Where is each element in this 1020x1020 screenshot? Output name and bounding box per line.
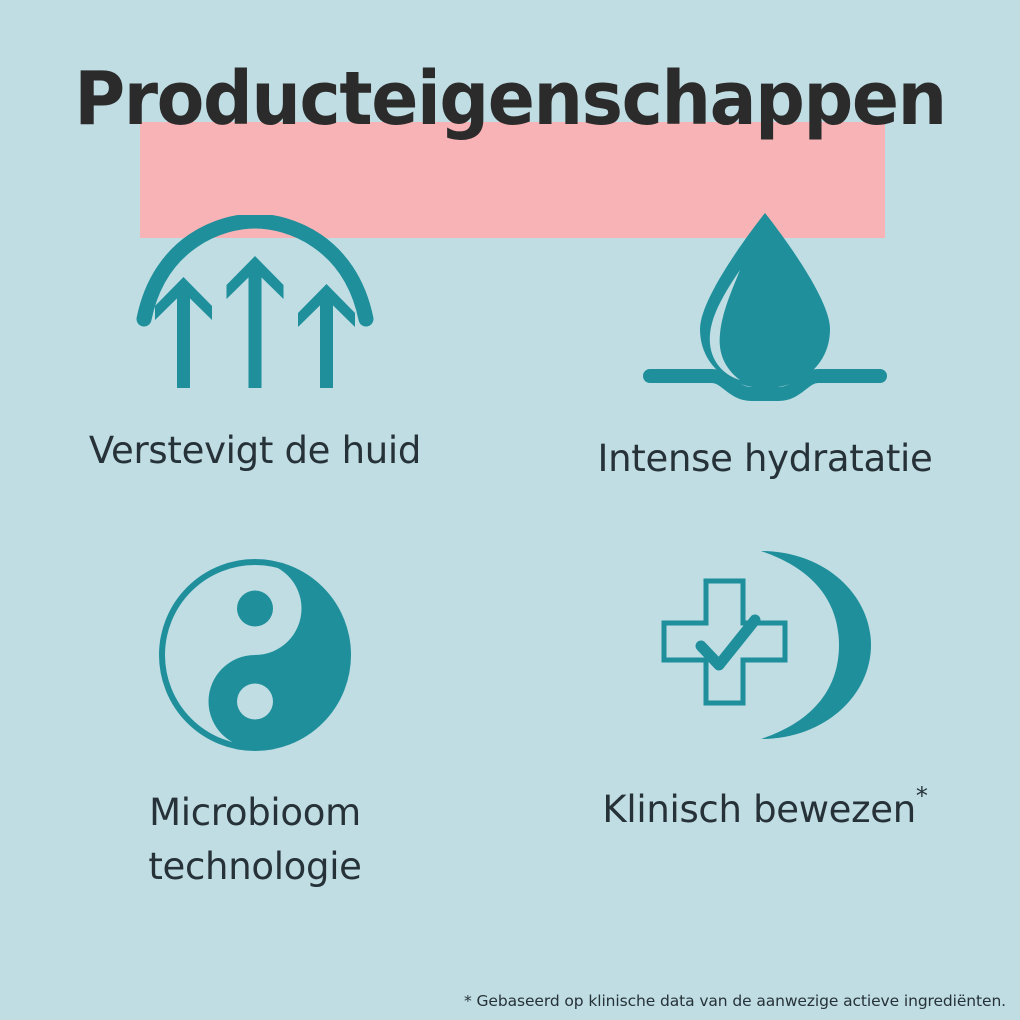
feature-label-microbiome-line2: technologie	[148, 845, 361, 888]
product-features-card: Producteigenschappen	[0, 0, 1020, 1020]
feature-label-hydration: Intense hydratatie	[598, 432, 933, 486]
feature-label-clinical-superscript: *	[916, 782, 928, 810]
page-title: Producteigenschappen	[31, 56, 990, 142]
medical-cross-check-crescent-icon	[643, 543, 888, 753]
feature-item-clinical: Klinisch bewezen*	[510, 515, 1020, 855]
feature-label-clinical: Klinisch bewezen*	[602, 783, 927, 837]
yin-yang-icon	[155, 555, 355, 760]
feature-item-hydration: Intense hydratatie	[510, 205, 1020, 515]
feature-label-microbiome: Microbioom technologie	[148, 786, 361, 894]
feature-label-firming: Verstevigt de huid	[89, 424, 421, 478]
feature-label-microbiome-line1: Microbioom	[149, 791, 361, 834]
arrows-up-under-arc-icon	[130, 215, 380, 400]
footnote-text: * Gebaseerd op klinische data van de aan…	[464, 991, 1006, 1011]
water-droplet-on-surface-icon	[640, 208, 890, 408]
feature-item-microbiome: Microbioom technologie	[0, 515, 510, 855]
feature-label-clinical-text: Klinisch bewezen	[602, 788, 916, 831]
title-block: Producteigenschappen	[0, 56, 1020, 186]
feature-grid: Verstevigt de huid	[0, 205, 1020, 855]
feature-item-firming: Verstevigt de huid	[0, 205, 510, 515]
